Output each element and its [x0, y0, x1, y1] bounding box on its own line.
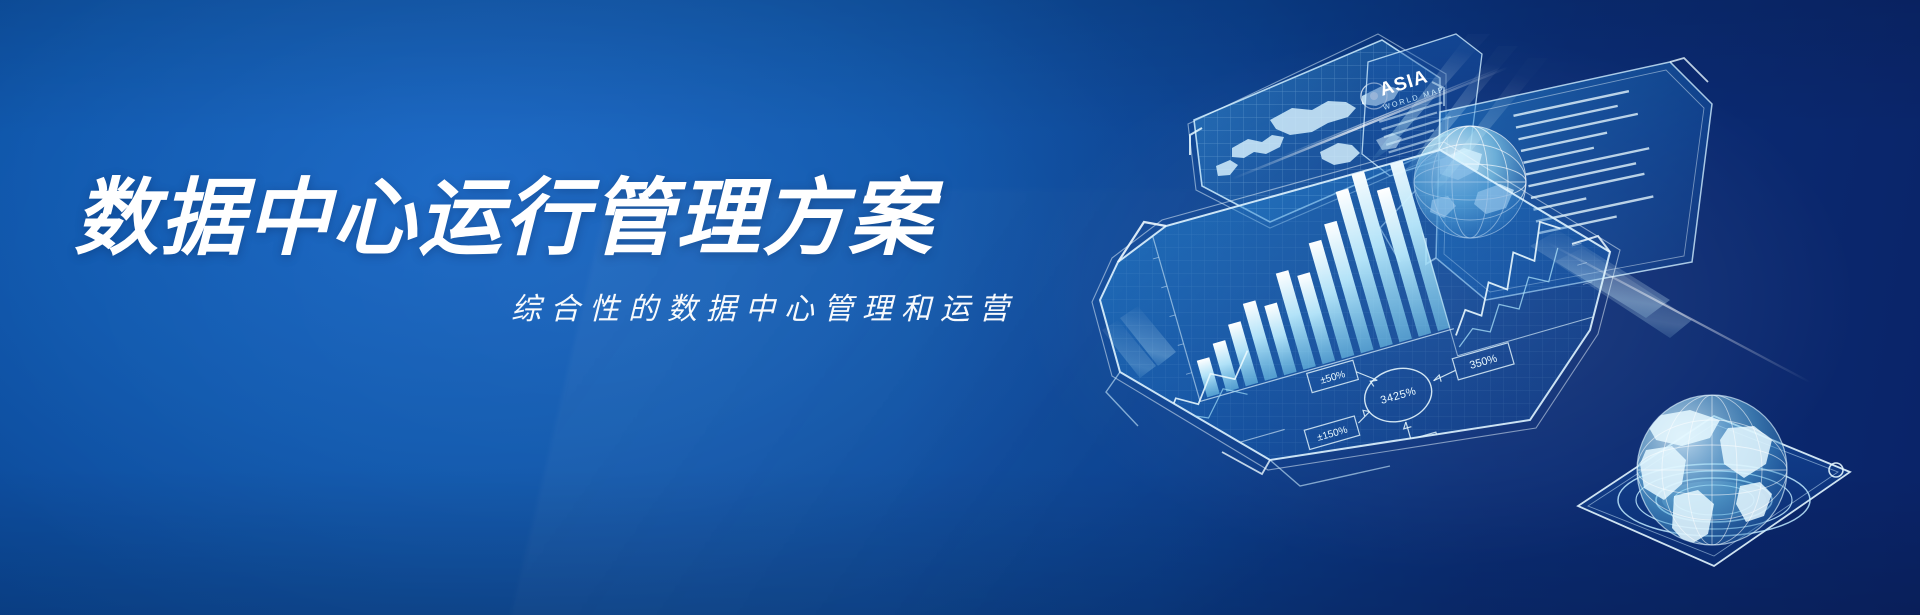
page-title: 数据中心运行管理方案	[74, 176, 1054, 262]
hero-text-block: 数据中心运行管理方案 综合性的数据中心管理和运营	[74, 176, 1054, 328]
hero-banner: ASIA WORLD MAP	[0, 0, 1920, 615]
page-subtitle: 综合性的数据中心管理和运营	[74, 284, 1054, 328]
